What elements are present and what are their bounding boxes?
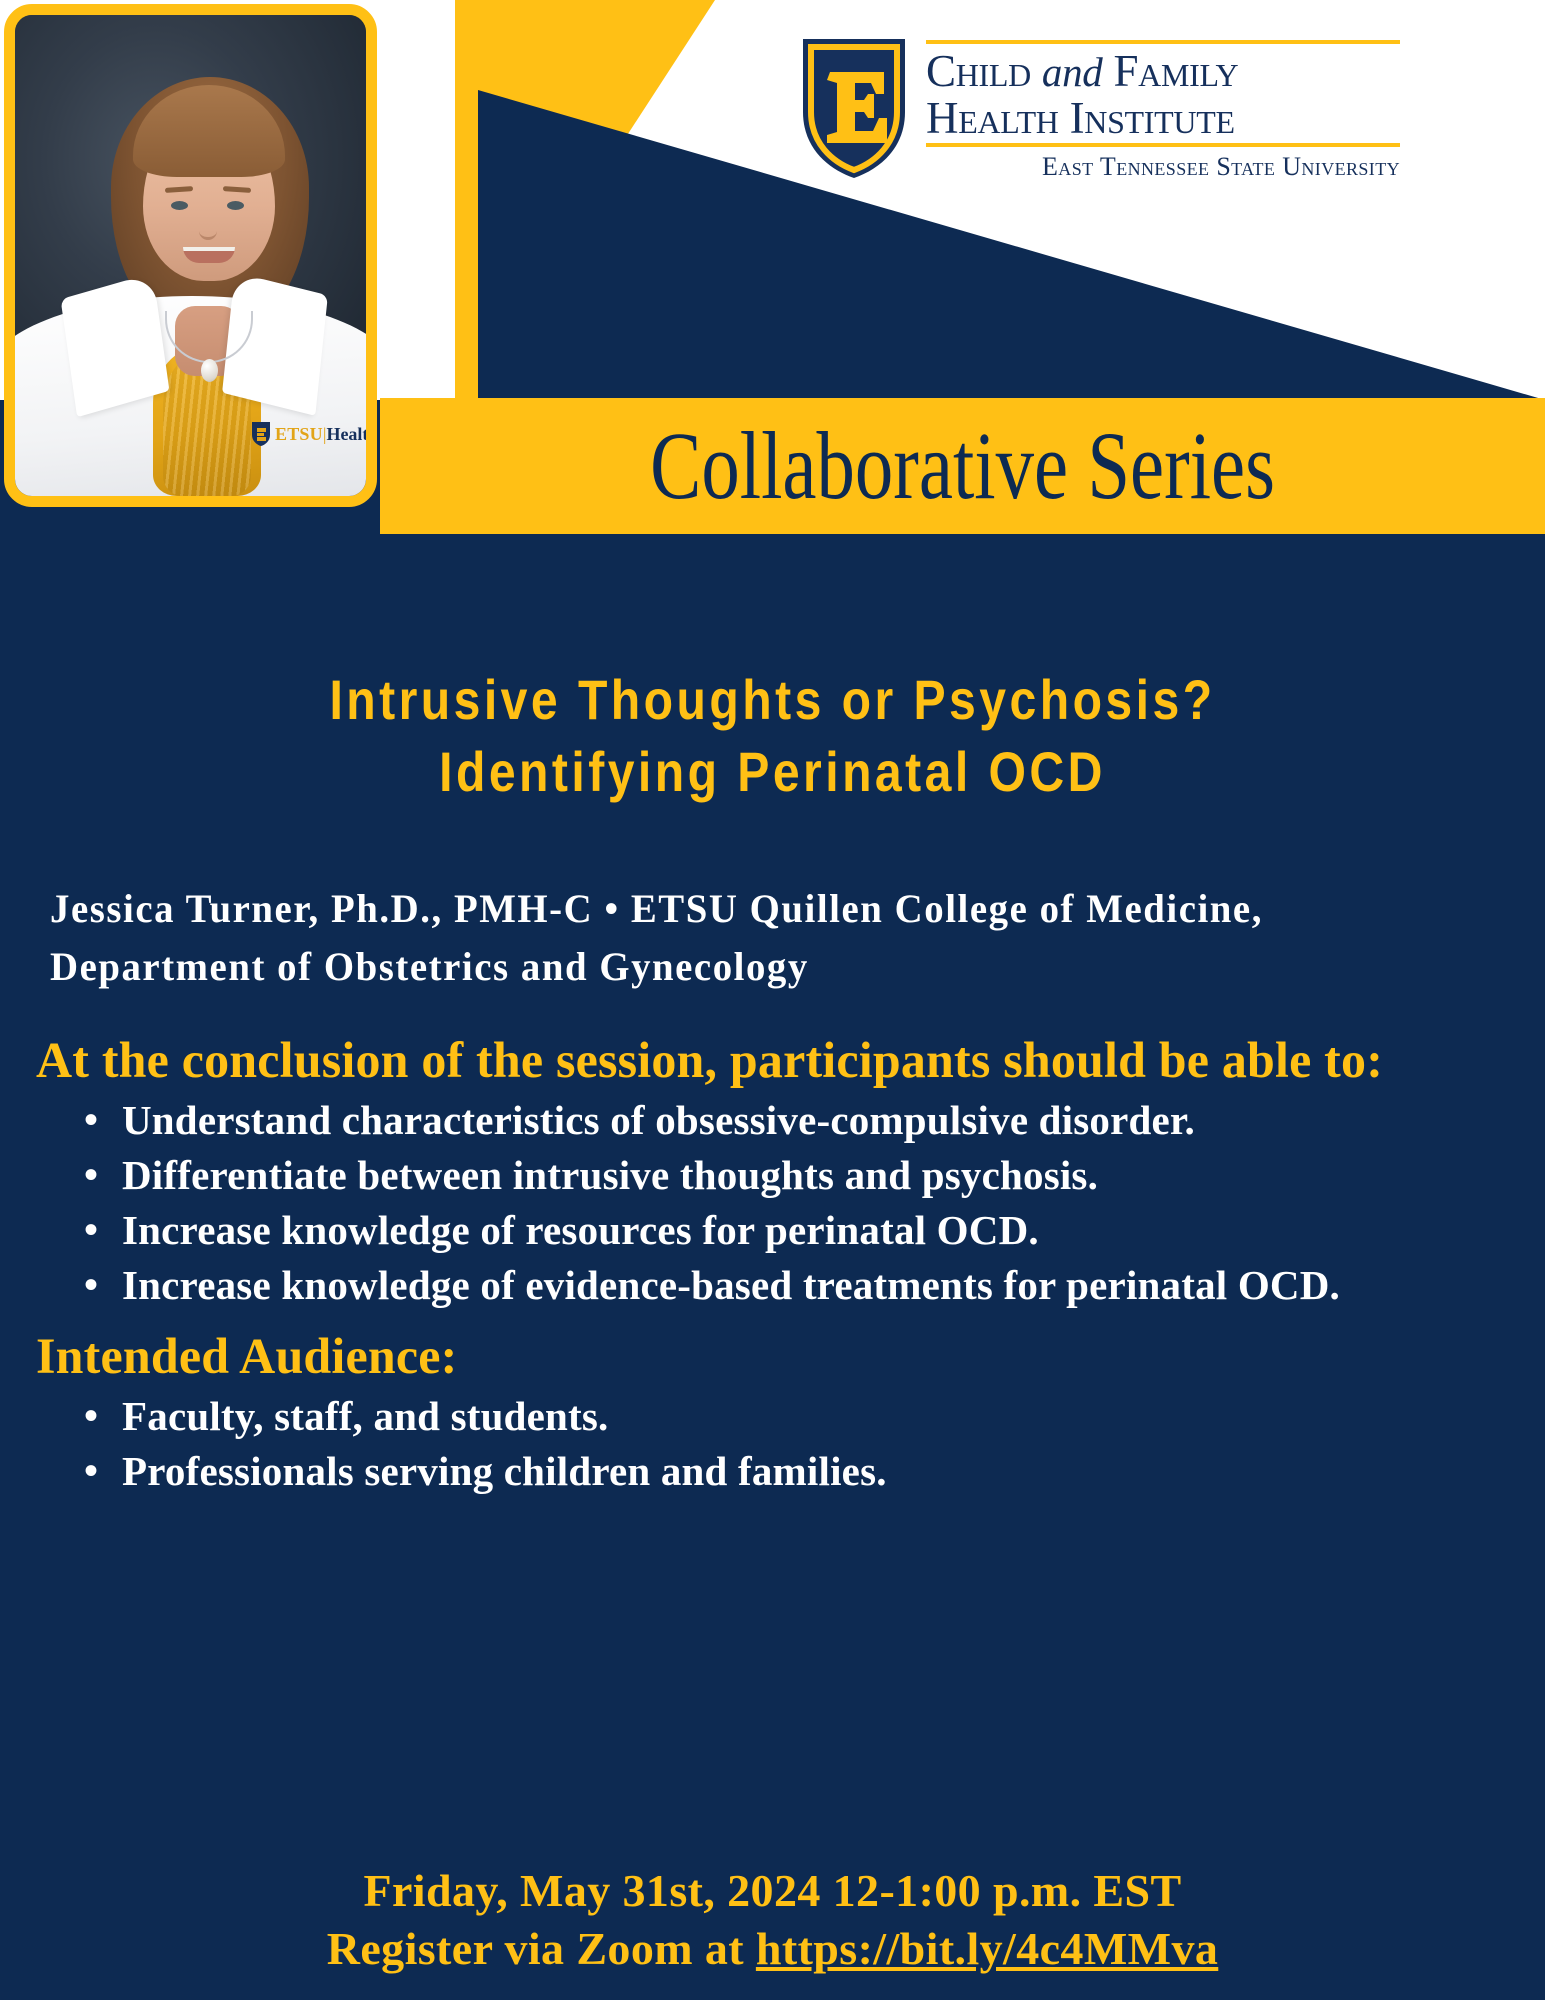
logo-line-2: Health Institute xyxy=(926,95,1400,141)
audience-heading: Intended Audience: xyxy=(36,1326,1480,1388)
presenter-credentials: Jessica Turner, Ph.D., PMH-C • ETSU Quil… xyxy=(50,880,1465,996)
event-footer: Friday, May 31st, 2024 12-1:00 p.m. EST … xyxy=(0,1862,1545,1978)
register-prefix: Register via Zoom at xyxy=(327,1923,756,1974)
list-item: Differentiate between intrusive thoughts… xyxy=(36,1149,1509,1202)
title-line-1: Intrusive Thoughts or Psychosis? xyxy=(108,664,1437,736)
presenter-photo-frame: ETSU|Health xyxy=(4,4,377,507)
event-datetime: Friday, May 31st, 2024 12-1:00 p.m. EST xyxy=(0,1862,1545,1920)
patch-label: ETSU|Health xyxy=(275,425,366,443)
title-line-2: Identifying Perinatal OCD xyxy=(108,736,1437,808)
logo-wordmark: Child and Family Health Institute East T… xyxy=(926,36,1400,182)
presenter-photo: ETSU|Health xyxy=(15,15,366,496)
flyer-body: Jessica Turner, Ph.D., PMH-C • ETSU Quil… xyxy=(0,880,1545,1500)
patch-shield-icon xyxy=(251,421,271,447)
objectives-heading: At the conclusion of the session, partic… xyxy=(36,1030,1480,1092)
series-title: Collaborative Series xyxy=(650,416,1275,516)
necklace-pendant xyxy=(201,359,218,382)
list-item: Understand characteristics of obsessive-… xyxy=(36,1094,1509,1147)
list-item: Increase knowledge of evidence-based tre… xyxy=(36,1259,1509,1312)
flyer-poster: Child and Family Health Institute East T… xyxy=(0,0,1545,2000)
registration-link[interactable]: https://bit.ly/4c4MMva xyxy=(756,1923,1218,1974)
series-banner: Collaborative Series xyxy=(380,398,1545,534)
logo-university-line: East Tennessee State University xyxy=(926,152,1400,182)
list-item: Increase knowledge of resources for peri… xyxy=(36,1204,1509,1257)
logo-rule-top xyxy=(926,40,1400,44)
audience-list: Faculty, staff, and students. Profession… xyxy=(36,1390,1509,1498)
cfhi-logo: Child and Family Health Institute East T… xyxy=(800,36,1400,211)
list-item: Professionals serving children and famil… xyxy=(36,1445,1509,1498)
etsu-shield-icon xyxy=(800,36,908,181)
registration-line: Register via Zoom at https://bit.ly/4c4M… xyxy=(0,1920,1545,1978)
eye-right xyxy=(227,201,244,210)
objectives-list: Understand characteristics of obsessive-… xyxy=(36,1094,1509,1312)
logo-rule-bottom xyxy=(926,143,1400,147)
etsu-health-patch: ETSU|Health xyxy=(251,421,366,447)
nose xyxy=(199,220,217,240)
page-title: Intrusive Thoughts or Psychosis? Identif… xyxy=(0,664,1545,808)
logo-line-1: Child and Family xyxy=(926,48,1400,95)
list-item: Faculty, staff, and students. xyxy=(36,1390,1509,1443)
mouth xyxy=(183,247,235,263)
eye-left xyxy=(171,201,188,210)
